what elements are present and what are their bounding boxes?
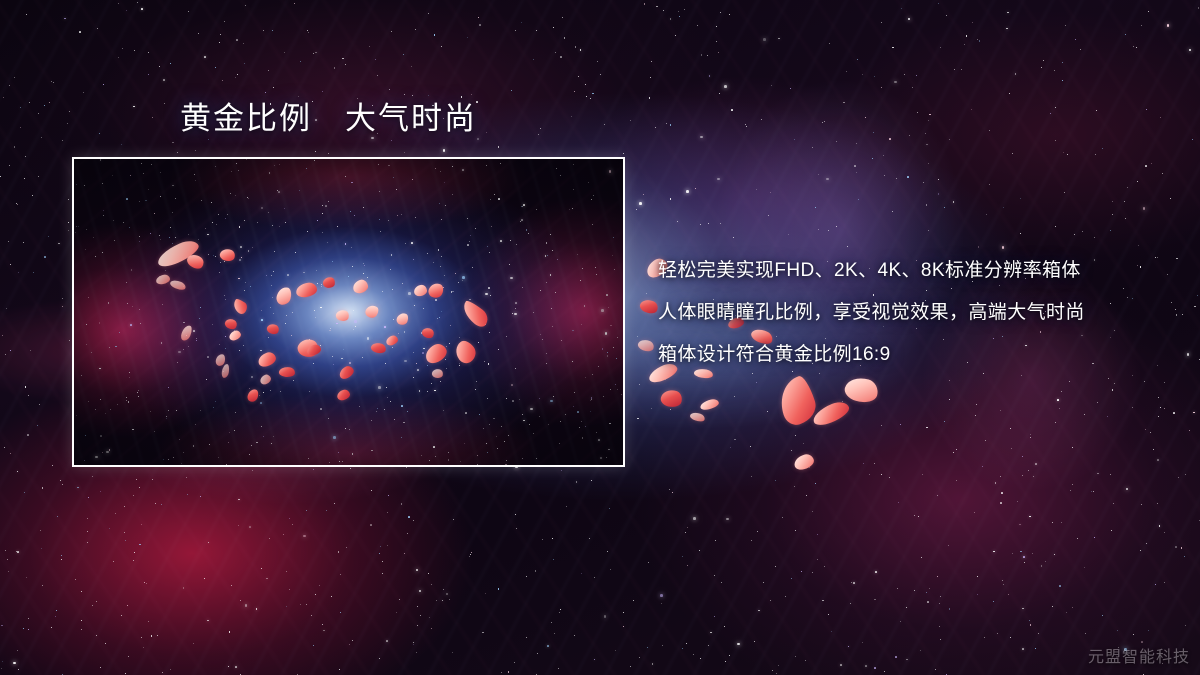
copy-line-1: 轻松完美实现FHD、2K、4K、8K标准分辨率箱体	[658, 257, 1178, 299]
page-title: 黄金比例 大气时尚	[180, 100, 477, 137]
copy-line-2: 人体眼睛瞳孔比例，享受视觉效果，高端大气时尚	[658, 299, 1178, 341]
body-copy: 轻松完美实现FHD、2K、4K、8K标准分辨率箱体 人体眼睛瞳孔比例，享受视觉效…	[658, 257, 1178, 383]
copy-line-3: 箱体设计符合黄金比例16:9	[658, 341, 1178, 383]
frame-vignette	[74, 159, 623, 465]
watermark: 元盟智能科技	[1088, 643, 1190, 667]
slide-canvas: 黄金比例 大气时尚 轻松完美实现FHD、2K、4K、8K标准分辨率箱体 人体眼睛…	[0, 0, 1200, 675]
image-frame	[72, 157, 625, 467]
